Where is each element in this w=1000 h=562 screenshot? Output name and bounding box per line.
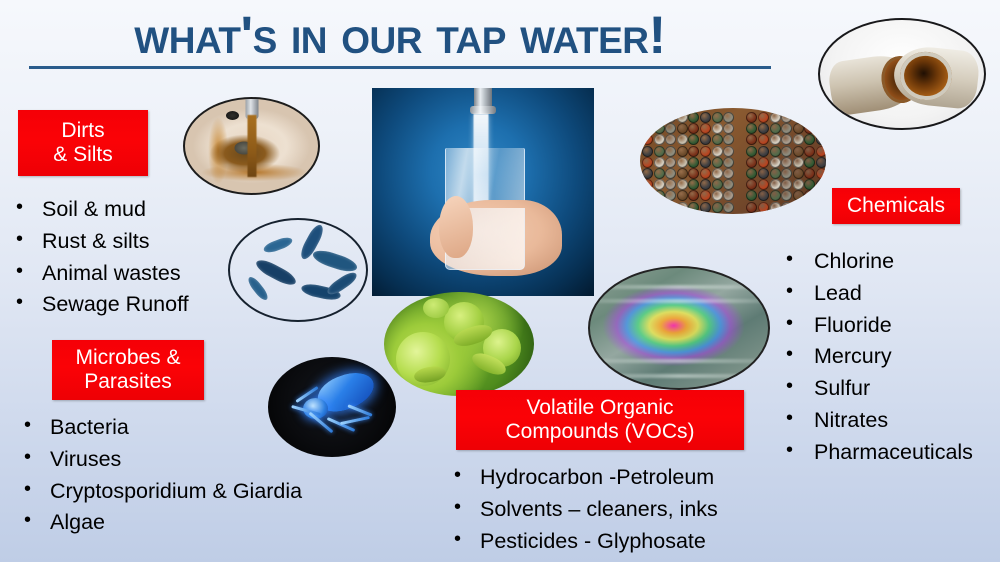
faucet-icon [474,88,492,114]
chemical-drum [665,112,676,123]
list-item: Pesticides - Glyphosate [450,526,718,558]
chemical-drum [793,179,804,190]
bacteria-cell [311,247,359,275]
chemical-drum [746,112,757,123]
list-item: Animal wastes [12,258,189,290]
water-ripple [588,285,770,289]
chemical-drum [677,168,688,179]
chemical-drum [654,112,665,123]
sink-overflow-hole [226,111,239,120]
list-item: Rust & silts [12,226,189,258]
chemical-drum [746,134,757,145]
chemical-drum [688,146,699,157]
chemical-drum [700,134,711,145]
chemical-drum [700,112,711,123]
chemical-drum [804,179,815,190]
list-item: Nitrates [782,405,973,437]
rusty-water-stream [247,115,256,177]
chemical-drum [770,146,781,157]
chemical-drum [654,134,665,145]
chemical-drum [758,157,769,168]
water-ripple [588,374,770,378]
chemical-drum [700,157,711,168]
chemical-drum [758,112,769,123]
page-title: What's in Our Tap Water! [0,8,800,64]
chemical-drum [723,157,734,168]
chemical-drum [642,202,653,213]
chemical-drum [793,112,804,123]
chemical-drum [781,179,792,190]
chemical-drum [781,202,792,213]
green-germs-photo [384,292,534,396]
chemical-drum [688,202,699,213]
list-item: Sulfur [782,373,973,405]
chemical-drum [804,168,815,179]
chemical-drum [665,168,676,179]
chemical-drum [688,168,699,179]
chemical-drum [770,157,781,168]
list-item: Algae [20,507,302,539]
chemical-drum [816,168,826,179]
chemical-drum [712,146,723,157]
chemical-drum [793,157,804,168]
chemical-drum [746,157,757,168]
chemical-drum [770,190,781,201]
chemical-drum [816,146,826,157]
chemical-drum [700,146,711,157]
corroded-pipes-photo [818,18,986,130]
chemical-drum [642,112,653,123]
chemical-drum [712,123,723,134]
list-chemicals: Chlorine Lead Fluoride Mercury Sulfur Ni… [782,246,973,469]
chemical-drum [723,190,734,201]
drum-grid [640,108,826,214]
chemical-drum [700,190,711,201]
chemical-drum [816,157,826,168]
label-text: Chemicals [847,194,945,218]
chemical-drum [781,112,792,123]
chemical-drum [712,168,723,179]
chemical-drum [781,168,792,179]
chemical-drum [665,179,676,190]
chemical-drum [804,190,815,201]
chemical-drum [677,134,688,145]
chemical-drum [746,190,757,201]
chemical-drum [654,146,665,157]
list-item: Solvents – cleaners, inks [450,494,718,526]
chemical-drum [665,202,676,213]
chemical-drum [712,179,723,190]
chemical-drum [723,168,734,179]
chemical-drum [816,134,826,145]
title-underline [29,66,771,69]
chemical-drum [781,157,792,168]
chemical-drum [712,112,723,123]
bacteria-cell [262,235,294,255]
chemical-drum [793,146,804,157]
chemical-drum [665,190,676,201]
rusty-sink-photo [183,97,320,195]
chemical-drum [816,123,826,134]
chemical-drum [816,112,826,123]
chemical-drum [793,134,804,145]
chemical-drum [758,202,769,213]
chemical-drum [793,123,804,134]
bacteria-cell [325,269,359,297]
chemical-drum [781,123,792,134]
chemical-drum [816,190,826,201]
chemical-drum [654,190,665,201]
list-item: Chlorine [782,246,973,278]
chemical-drum [770,202,781,213]
chemical-drum [642,179,653,190]
chemical-drum [770,123,781,134]
chemical-drum [642,134,653,145]
chemical-drum [665,157,676,168]
list-item: Bacteria [20,412,302,444]
chemical-drum [677,146,688,157]
chemical-drum [770,168,781,179]
chemical-drum [781,146,792,157]
chemical-drum [665,146,676,157]
list-item: Lead [782,278,973,310]
chemical-drum [688,190,699,201]
chemical-drum [804,123,815,134]
chemical-drum [688,123,699,134]
chemical-drum [677,157,688,168]
chemical-drum [723,146,734,157]
list-item: Soil & mud [12,194,189,226]
chemical-drum [804,134,815,145]
chemical-drum [677,202,688,213]
list-item: Mercury [782,341,973,373]
list-volatile-organic-compounds: Hydrocarbon -Petroleum Solvents – cleane… [450,462,718,557]
label-volatile-organic-compounds: Volatile OrganicCompounds (VOCs) [456,390,744,450]
chemical-drum [746,168,757,179]
label-text: Dirts& Silts [53,119,113,168]
chemical-drum [723,179,734,190]
chemical-drum [793,190,804,201]
list-microbes-and-parasites: Bacteria Viruses Cryptosporidium & Giard… [20,412,302,539]
slide-canvas: What's in Our Tap Water! [0,0,1000,562]
chemical-drum [654,123,665,134]
page-title-container: What's in Our Tap Water! [0,8,800,69]
chemical-drum [804,112,815,123]
chemical-drum [723,202,734,213]
chemical-drum [677,112,688,123]
chemical-drum [642,168,653,179]
chemical-drum [746,123,757,134]
chemical-drum [758,134,769,145]
list-item: Hydrocarbon -Petroleum [450,462,718,494]
list-dirts-and-silts: Soil & mud Rust & silts Animal wastes Se… [12,194,189,321]
chemical-drum [758,179,769,190]
chemical-drum [712,202,723,213]
chemical-drum [712,190,723,201]
chemical-drum [642,146,653,157]
chemical-drums-photo [640,108,826,214]
chemical-drum [770,112,781,123]
chemical-drum [654,202,665,213]
chemical-drum [665,123,676,134]
chemical-drum [654,168,665,179]
chemical-drum [688,179,699,190]
chemical-drum [793,202,804,213]
chemical-drum [804,202,815,213]
chemical-drum [642,123,653,134]
chemical-drum [723,123,734,134]
tap-water-glass-photo [372,88,594,296]
chemical-drum [758,168,769,179]
label-text: Microbes &Parasites [75,346,180,395]
chemical-drum [770,134,781,145]
water-ripple [588,359,770,363]
chemical-drum [712,134,723,145]
chemical-drum [781,134,792,145]
chemical-drum [688,112,699,123]
chemical-drum [700,168,711,179]
bacteria-micrograph-photo [228,218,368,322]
chemical-drum [642,190,653,201]
chemical-drum [781,190,792,201]
list-item: Fluoride [782,310,973,342]
chemical-drum [723,112,734,123]
chemical-drum [746,202,757,213]
oil-sheen-water-photo [588,266,770,390]
chemical-drum [665,134,676,145]
chemical-drum [700,179,711,190]
chemical-drum [700,123,711,134]
chemical-drum [677,123,688,134]
chemical-drum [804,157,815,168]
parasite-leg [348,404,373,417]
list-item: Pharmaceuticals [782,437,973,469]
label-text: Volatile OrganicCompounds (VOCs) [505,396,694,445]
thumb [439,196,473,258]
chemical-drum [700,202,711,213]
chemical-drum [677,190,688,201]
list-item: Viruses [20,444,302,476]
chemical-drum [816,202,826,213]
chemical-drum [654,157,665,168]
list-item: Cryptosporidium & Giardia [20,476,302,508]
chemical-drum [793,168,804,179]
chemical-drum [758,190,769,201]
label-chemicals: Chemicals [832,188,960,224]
chemical-drum [804,146,815,157]
chemical-drum [654,179,665,190]
chemical-drum [746,146,757,157]
chemical-drum [677,179,688,190]
chemical-drum [816,179,826,190]
chemical-drum [746,179,757,190]
chemical-drum [712,157,723,168]
chemical-drum [758,123,769,134]
label-microbes-and-parasites: Microbes &Parasites [52,340,204,400]
chemical-drum [723,134,734,145]
chemical-drum [688,157,699,168]
list-item: Sewage Runoff [12,289,189,321]
chemical-drum [642,157,653,168]
chemical-drum [758,146,769,157]
parasite-leg [340,416,370,425]
chemical-drum [770,179,781,190]
bacteria-cell [245,275,269,303]
chemical-drum [688,134,699,145]
water-ripple [588,299,770,303]
label-dirts-and-silts: Dirts& Silts [18,110,148,176]
